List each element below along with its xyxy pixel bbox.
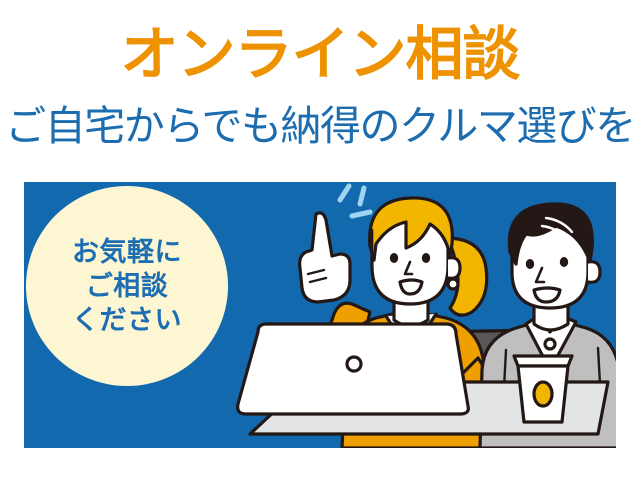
blue-panel: お気軽に ご相談 ください — [24, 182, 616, 448]
page-title: オンライン相談 — [0, 24, 640, 86]
laptop — [238, 324, 469, 414]
badge-line-2: ご相談 — [86, 269, 169, 303]
consultation-illustration — [194, 182, 616, 448]
header: オンライン相談 ご自宅からでも納得のクルマ選びを — [0, 0, 640, 172]
coffee-cup — [514, 356, 572, 422]
page-subtitle: ご自宅からでも納得のクルマ選びを — [0, 102, 640, 150]
badge-line-3: ください — [72, 303, 182, 337]
promo-banner: オンライン相談 ご自宅からでも納得のクルマ選びを お気軽に ご相談 ください — [0, 0, 640, 480]
sparkle-icon — [340, 186, 370, 216]
badge-line-1: お気軽に — [72, 235, 182, 269]
